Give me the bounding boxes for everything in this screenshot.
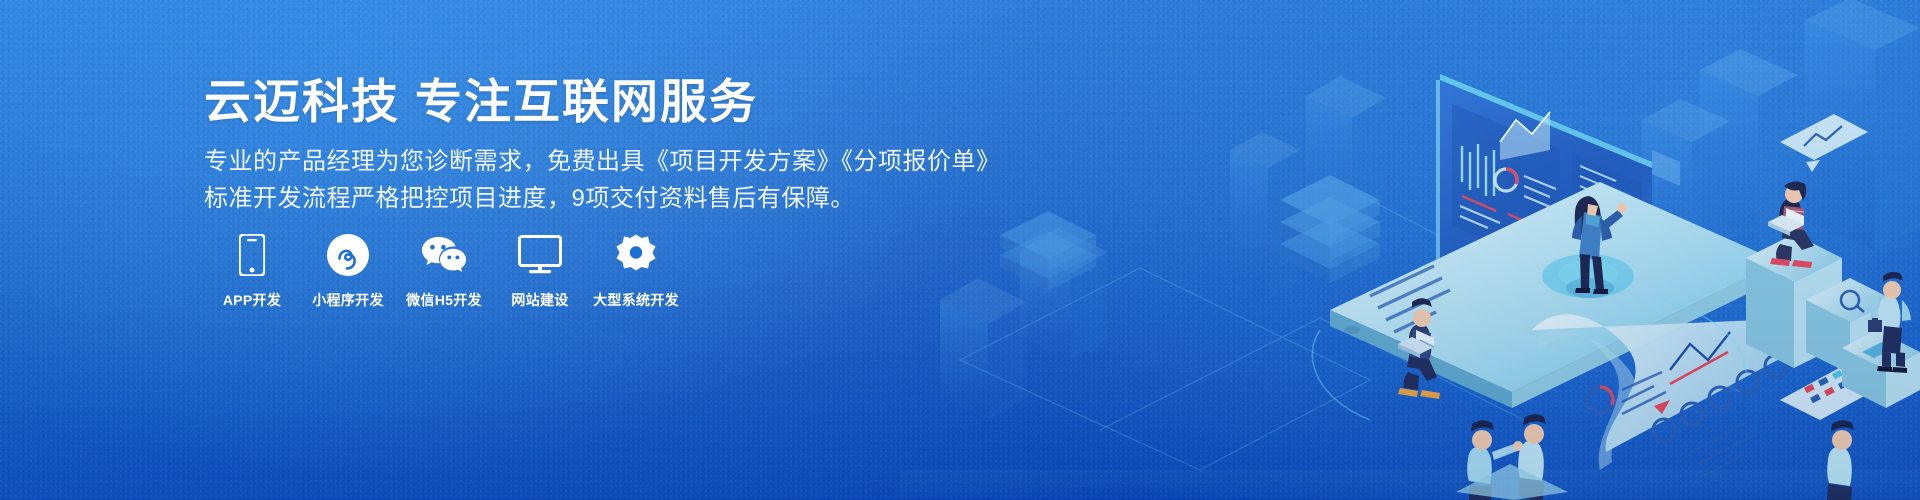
banner-headline: 云迈科技 专注互联网服务: [204, 74, 758, 129]
banner-subtitle-line-2: 标准开发流程严格把控项目进度，9项交付资料售后有保障。: [204, 181, 855, 217]
service-item-large-system[interactable]: 大型系统开发: [588, 232, 684, 310]
mobile-phone-icon: [239, 232, 265, 278]
banner-subtitle-line-1: 专业的产品经理为您诊断需求，免费出具《项目开发方案》《分项报价单》: [204, 144, 1001, 180]
banner-content: 云迈科技 专注互联网服务 专业的产品经理为您诊断需求，免费出具《项目开发方案》《…: [204, 0, 924, 500]
service-label: APP开发: [223, 290, 281, 310]
monitor-icon: [518, 232, 562, 278]
service-label: 网站建设: [511, 290, 568, 310]
service-list: APP开发 小程序开发: [204, 232, 684, 310]
gear-icon: [615, 232, 657, 278]
service-label: 小程序开发: [312, 290, 384, 310]
wechat-icon: [420, 232, 468, 278]
promotional-banner: 云迈科技 专注互联网服务 专业的产品经理为您诊断需求，免费出具《项目开发方案》《…: [0, 0, 1920, 500]
mini-program-icon: [327, 232, 369, 278]
service-label: 微信H5开发: [406, 290, 482, 310]
service-item-mini-program[interactable]: 小程序开发: [300, 232, 396, 310]
service-label: 大型系统开发: [593, 290, 679, 310]
service-item-wechat-h5[interactable]: 微信H5开发: [396, 232, 492, 310]
service-item-app[interactable]: APP开发: [204, 232, 300, 310]
service-item-website[interactable]: 网站建设: [492, 232, 588, 310]
